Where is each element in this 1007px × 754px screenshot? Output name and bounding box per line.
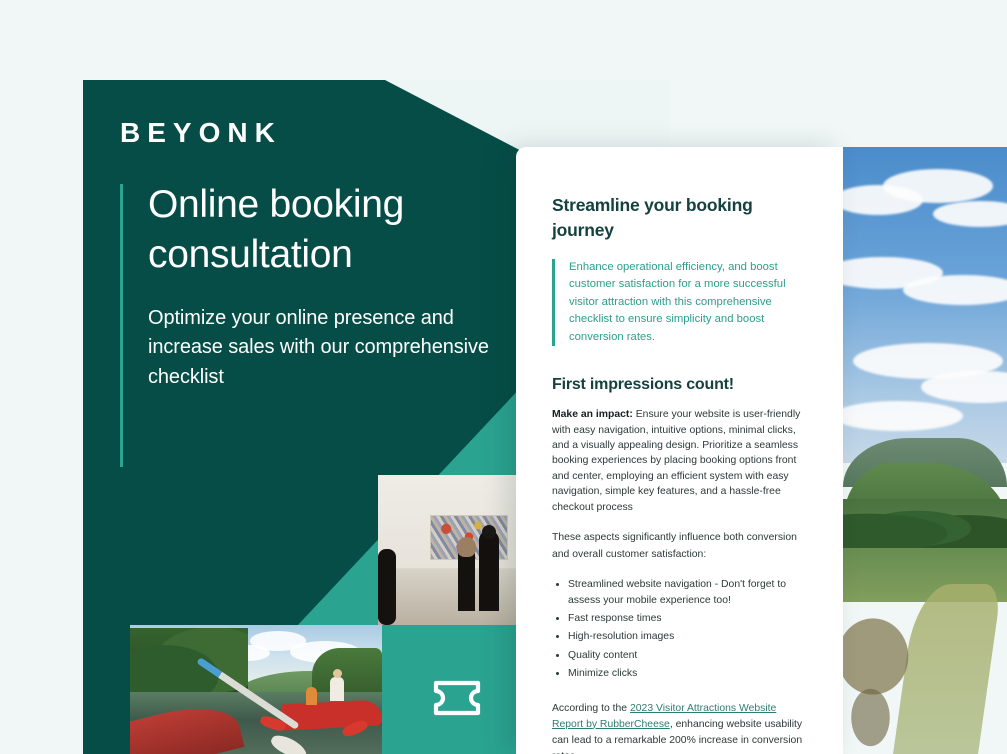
section-body-text: Ensure your website is user-friendly wit… (552, 409, 800, 512)
headline-block: Online booking consultation Optimize you… (120, 180, 520, 392)
brand-logo: BEYONK (120, 119, 282, 147)
section-body-secondary: These aspects significantly influence bo… (552, 530, 807, 563)
footnote-prefix: According to the (552, 703, 630, 714)
panel-heading: Streamline your booking journey (552, 193, 807, 243)
list-item: Minimize clicks (568, 666, 807, 681)
content-panel: Streamline your booking journey Enhance … (516, 147, 843, 754)
landscape-dirt-patch (846, 681, 895, 754)
list-item: Fast response times (568, 611, 807, 626)
canoeing-photo (130, 625, 382, 754)
canoe-paddler (330, 677, 344, 701)
list-item: Streamlined website navigation - Don't f… (568, 577, 807, 608)
landscape-treeline (843, 499, 1007, 548)
page-subtitle: Optimize your online presence and increa… (148, 304, 520, 392)
gallery-visitor (479, 531, 499, 611)
section-body-lead: Make an impact: (552, 409, 633, 420)
gallery-visitor-head (482, 525, 496, 539)
screenshot-stage: BEYONK Online booking consultation Optim… (0, 0, 1007, 754)
section-body: Make an impact: Ensure your website is u… (552, 407, 807, 515)
ticket-icon (433, 680, 481, 716)
countryside-landscape-photo (843, 147, 1007, 754)
list-item: High-resolution images (568, 629, 807, 644)
headline-accent-rule (120, 184, 123, 467)
list-item: Quality content (568, 648, 807, 663)
footnote: According to the 2023 Visitor Attraction… (552, 701, 807, 754)
panel-callout-quote: Enhance operational efficiency, and boos… (552, 259, 807, 347)
landscape-cloud (883, 169, 993, 203)
canoe-paddler (306, 687, 317, 705)
page-title: Online booking consultation (148, 180, 520, 280)
gallery-visitor-head (457, 537, 476, 557)
gallery-visitor (378, 549, 396, 625)
benefits-list: Streamlined website navigation - Don't f… (552, 577, 807, 681)
canoe-paddler-head (333, 669, 342, 678)
section-heading: First impressions count! (552, 376, 807, 394)
